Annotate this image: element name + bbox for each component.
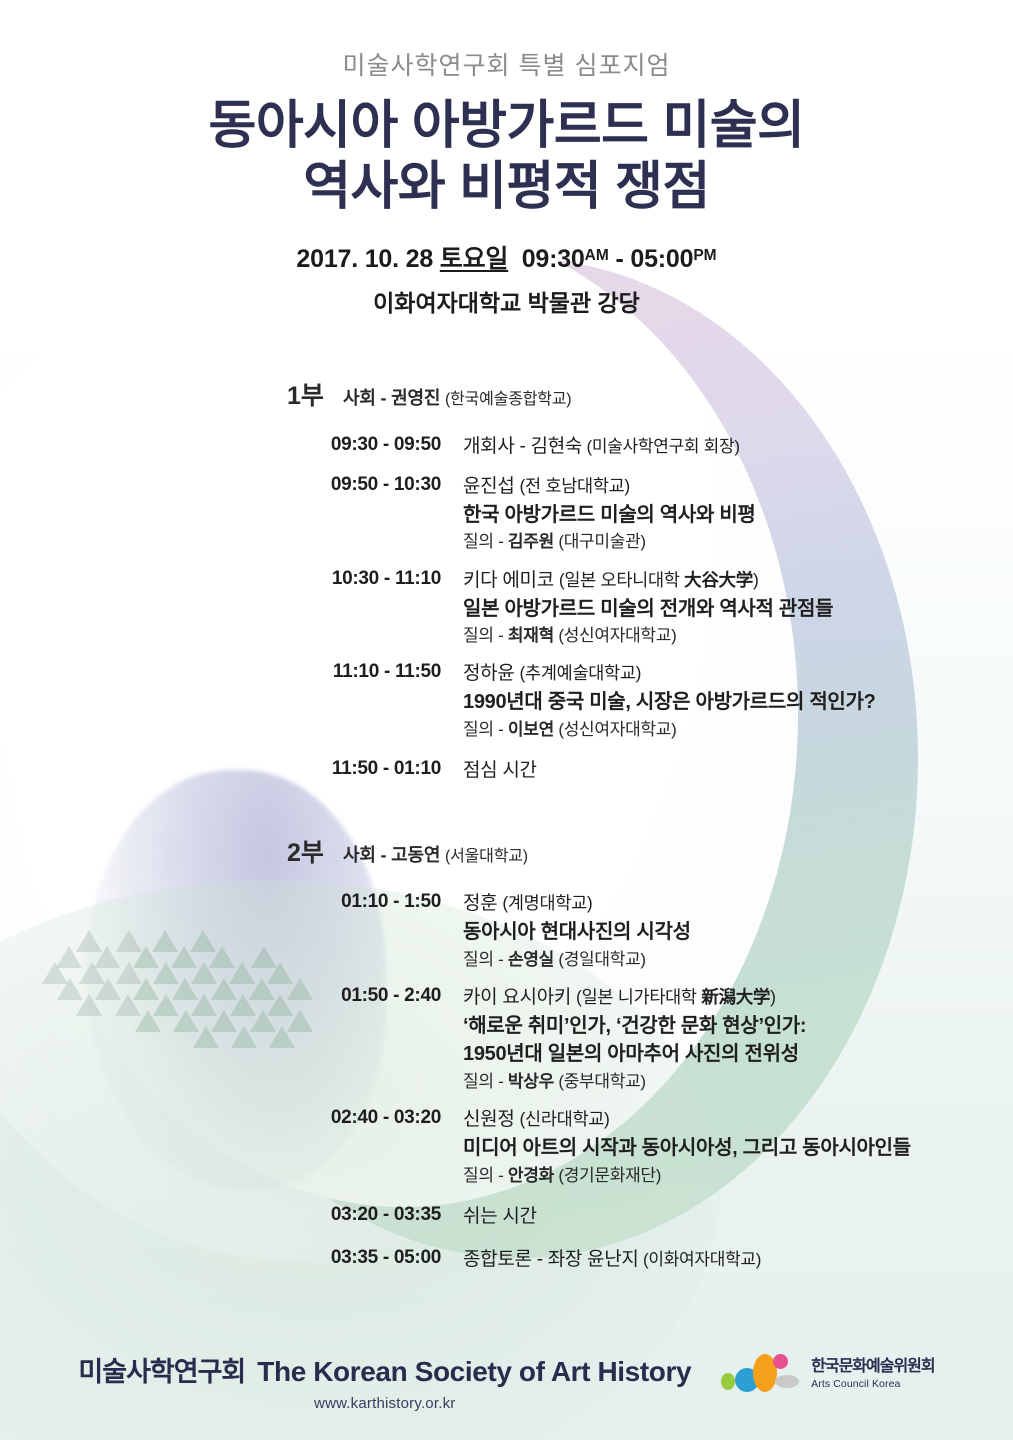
program-schedule: 1부사회 - 권영진 (한국예술종합학교)09:30 - 09:50개회사 - … bbox=[0, 376, 1013, 1274]
sponsor-logo: 한국문화예술위원회 Arts Council Korea bbox=[721, 1348, 934, 1394]
discussant-name: 김주원 bbox=[508, 532, 554, 551]
discussant-institution: (성신여자대학교) bbox=[554, 626, 677, 645]
discussant-name: 최재혁 bbox=[508, 626, 554, 645]
schedule-row: 01:10 - 1:50정훈 (계명대학교)동아시아 현대사진의 시각성질의 -… bbox=[0, 891, 1013, 972]
speaker-institution: (전 호남대학교) bbox=[520, 476, 630, 496]
speaker-institution-cjk: 新潟大学 bbox=[701, 987, 770, 1007]
schedule-row: 02:40 - 03:20신원정 (신라대학교)미디어 아트의 시작과 동아시아… bbox=[0, 1107, 1013, 1188]
kicker-text: 미술사학연구회 특별 심포지엄 bbox=[0, 46, 1013, 82]
speaker-name: 카이 요시아키 (일본 니가타대학 新潟大学) bbox=[463, 985, 983, 1012]
part-header: 2부사회 - 고동연 (서울대학교) bbox=[0, 833, 1013, 869]
discussant-name: 안경화 bbox=[508, 1166, 554, 1185]
speaker-institution-close: ) bbox=[753, 570, 759, 590]
schedule-detail: 종합토론 - 좌장 윤난지 (이화여자대학교) bbox=[463, 1247, 1013, 1274]
time-dash: - bbox=[616, 245, 624, 273]
discussant-name: 손영실 bbox=[508, 950, 554, 969]
schedule-detail: 윤진섭 (전 호남대학교)한국 아방가르드 미술의 역사와 비평질의 - 김주원… bbox=[463, 474, 1013, 555]
schedule-time: 01:10 - 1:50 bbox=[0, 891, 463, 972]
discussant: 질의 - 최재혁 (성신여자대학교) bbox=[463, 623, 983, 649]
title-line-2: 역사와 비평적 쟁점 bbox=[0, 157, 1013, 218]
discussant-institution: (경기문화재단) bbox=[554, 1166, 661, 1185]
schedule-plain-text: 쉬는 시간 bbox=[463, 1204, 983, 1231]
discussant: 질의 - 박상우 (중부대학교) bbox=[463, 1069, 983, 1095]
time-start-suffix: AM bbox=[585, 247, 609, 264]
discussant-name: 박상우 bbox=[508, 1072, 554, 1091]
talk-title: 1990년대 중국 미술, 시장은 아방가르드의 적인가? bbox=[463, 688, 983, 716]
event-weekday: 토요일 bbox=[440, 245, 508, 273]
event-venue: 이화여자대학교 박물관 강당 bbox=[0, 284, 1013, 318]
logo-dot-green-icon bbox=[721, 1373, 735, 1390]
arts-council-mark-icon bbox=[721, 1354, 801, 1394]
discussant-institution: (경일대학교) bbox=[554, 950, 646, 969]
chair-institution: (서울대학교) bbox=[445, 848, 528, 865]
logo-dot-gray-icon bbox=[775, 1375, 799, 1388]
schedule-detail: 정훈 (계명대학교)동아시아 현대사진의 시각성질의 - 손영실 (경일대학교) bbox=[463, 891, 1013, 972]
speaker-institution: (추계예술대학교) bbox=[520, 663, 642, 683]
poster-root: 미술사학연구회 특별 심포지엄 동아시아 아방가르드 미술의 역사와 비평적 쟁… bbox=[0, 0, 1013, 1440]
speaker-institution: (계명대학교) bbox=[502, 893, 592, 913]
society-name-ko: 미술사학연구회 bbox=[78, 1350, 245, 1389]
society-name-en: The Korean Society of Art History bbox=[257, 1356, 691, 1388]
schedule-time: 03:20 - 03:35 bbox=[0, 1204, 463, 1231]
sponsor-name-en: Arts Council Korea bbox=[811, 1378, 934, 1390]
part-chair: 사회 - 고동연 (서울대학교) bbox=[343, 841, 528, 867]
speaker-name: 정하윤 (추계예술대학교) bbox=[463, 661, 983, 688]
discussant-name: 이보연 bbox=[508, 720, 554, 739]
title-line-1: 동아시아 아방가르드 미술의 bbox=[209, 97, 805, 155]
society-website[interactable]: www.karthistory.or.kr bbox=[78, 1395, 691, 1412]
speaker-institution-close: ) bbox=[770, 987, 776, 1007]
schedule-time: 09:30 - 09:50 bbox=[0, 434, 463, 461]
schedule-row: 03:20 - 03:35쉬는 시간 bbox=[0, 1204, 1013, 1231]
chair-label: 사회 - 고동연 bbox=[343, 845, 440, 865]
speaker-name: 신원정 (신라대학교) bbox=[463, 1107, 983, 1134]
talk-title: 일본 아방가르드 미술의 전개와 역사적 관점들 bbox=[463, 595, 983, 623]
schedule-plain-institution: (이화여자대학교) bbox=[639, 1250, 762, 1269]
schedule-row: 09:30 - 09:50개회사 - 김현숙 (미술사학연구회 회장) bbox=[0, 434, 1013, 461]
event-datetime: 2017. 10. 28 토요일 09:30AM - 05:00PM bbox=[0, 239, 1013, 275]
talk-title: 미디어 아트의 시작과 동아시아성, 그리고 동아시아인들 bbox=[463, 1134, 983, 1162]
schedule-detail: 키다 에미코 (일본 오타니대학 大谷大学)일본 아방가르드 미술의 전개와 역… bbox=[463, 568, 1013, 649]
schedule-row: 01:50 - 2:40카이 요시아키 (일본 니가타대학 新潟大学)‘해로운 … bbox=[0, 985, 1013, 1094]
society-name-line: 미술사학연구회 The Korean Society of Art Histor… bbox=[78, 1350, 691, 1389]
chair-label: 사회 - 권영진 bbox=[343, 388, 440, 408]
poster-header: 미술사학연구회 특별 심포지엄 동아시아 아방가르드 미술의 역사와 비평적 쟁… bbox=[0, 0, 1013, 318]
schedule-plain-institution: (미술사학연구회 회장) bbox=[582, 437, 740, 456]
schedule-row: 03:35 - 05:00종합토론 - 좌장 윤난지 (이화여자대학교) bbox=[0, 1247, 1013, 1274]
talk-title: 동아시아 현대사진의 시각성 bbox=[463, 918, 983, 946]
sponsor-text: 한국문화예술위원회 Arts Council Korea bbox=[811, 1358, 934, 1390]
time-end-suffix: PM bbox=[693, 247, 716, 264]
schedule-detail: 개회사 - 김현숙 (미술사학연구회 회장) bbox=[463, 434, 1013, 461]
schedule-detail: 신원정 (신라대학교)미디어 아트의 시작과 동아시아성, 그리고 동아시아인들… bbox=[463, 1107, 1013, 1188]
chair-institution: (한국예술종합학교) bbox=[445, 391, 571, 408]
sponsor-name-ko: 한국문화예술위원회 bbox=[811, 1358, 934, 1376]
schedule-time: 11:50 - 01:10 bbox=[0, 758, 463, 785]
schedule-detail: 점심 시간 bbox=[463, 758, 1013, 785]
poster-footer: 미술사학연구회 The Korean Society of Art Histor… bbox=[0, 1348, 1013, 1412]
schedule-time: 03:35 - 05:00 bbox=[0, 1247, 463, 1274]
talk-title: ‘해로운 취미’인가, ‘건강한 문화 현상’인가: bbox=[463, 1012, 983, 1040]
discussant: 질의 - 안경화 (경기문화재단) bbox=[463, 1163, 983, 1189]
talk-title: 한국 아방가르드 미술의 역사와 비평 bbox=[463, 501, 983, 529]
discussant: 질의 - 이보연 (성신여자대학교) bbox=[463, 717, 983, 743]
schedule-time: 09:50 - 10:30 bbox=[0, 474, 463, 555]
event-time-start: 09:30 bbox=[522, 245, 585, 273]
discussant: 질의 - 김주원 (대구미술관) bbox=[463, 529, 983, 555]
society-block: 미술사학연구회 The Korean Society of Art Histor… bbox=[78, 1348, 691, 1412]
talk-title-line2: 1950년대 일본의 아마추어 사진의 전위성 bbox=[463, 1040, 983, 1068]
schedule-time: 11:10 - 11:50 bbox=[0, 661, 463, 742]
part-chair: 사회 - 권영진 (한국예술종합학교) bbox=[343, 384, 571, 410]
speaker-name: 정훈 (계명대학교) bbox=[463, 891, 983, 918]
schedule-row: 11:50 - 01:10점심 시간 bbox=[0, 758, 1013, 785]
discussant: 질의 - 손영실 (경일대학교) bbox=[463, 947, 983, 973]
schedule-detail: 카이 요시아키 (일본 니가타대학 新潟大学)‘해로운 취미’인가, ‘건강한 … bbox=[463, 985, 1013, 1094]
part-number: 1부 bbox=[287, 376, 343, 412]
schedule-plain-text: 점심 시간 bbox=[463, 758, 983, 785]
speaker-name: 키다 에미코 (일본 오타니대학 大谷大学) bbox=[463, 568, 983, 595]
schedule-time: 01:50 - 2:40 bbox=[0, 985, 463, 1094]
speaker-name: 윤진섭 (전 호남대학교) bbox=[463, 474, 983, 501]
speaker-institution-cjk: 大谷大学 bbox=[684, 570, 753, 590]
speaker-institution: (신라대학교) bbox=[520, 1109, 610, 1129]
discussant-institution: (중부대학교) bbox=[554, 1072, 646, 1091]
part-number: 2부 bbox=[287, 833, 343, 869]
schedule-plain-text: 종합토론 - 좌장 윤난지 (이화여자대학교) bbox=[463, 1247, 983, 1274]
speaker-institution: (일본 니가타대학 新潟大学) bbox=[576, 987, 776, 1007]
schedule-time: 02:40 - 03:20 bbox=[0, 1107, 463, 1188]
part-header: 1부사회 - 권영진 (한국예술종합학교) bbox=[0, 376, 1013, 412]
event-time-end: 05:00 bbox=[630, 245, 693, 273]
logo-dot-pink-icon bbox=[773, 1354, 788, 1369]
page-title: 동아시아 아방가르드 미술의 역사와 비평적 쟁점 bbox=[0, 96, 1013, 219]
schedule-row: 10:30 - 11:10키다 에미코 (일본 오타니대학 大谷大学)일본 아방… bbox=[0, 568, 1013, 649]
discussant-institution: (대구미술관) bbox=[554, 532, 646, 551]
schedule-detail: 정하윤 (추계예술대학교)1990년대 중국 미술, 시장은 아방가르드의 적인… bbox=[463, 661, 1013, 742]
event-date: 2017. 10. 28 bbox=[296, 245, 433, 273]
speaker-institution: (일본 오타니대학 大谷大学) bbox=[559, 570, 759, 590]
schedule-detail: 쉬는 시간 bbox=[463, 1204, 1013, 1231]
schedule-time: 10:30 - 11:10 bbox=[0, 568, 463, 649]
schedule-row: 11:10 - 11:50정하윤 (추계예술대학교)1990년대 중국 미술, … bbox=[0, 661, 1013, 742]
discussant-institution: (성신여자대학교) bbox=[554, 720, 677, 739]
schedule-plain-text: 개회사 - 김현숙 (미술사학연구회 회장) bbox=[463, 434, 983, 461]
schedule-row: 09:50 - 10:30윤진섭 (전 호남대학교)한국 아방가르드 미술의 역… bbox=[0, 474, 1013, 555]
